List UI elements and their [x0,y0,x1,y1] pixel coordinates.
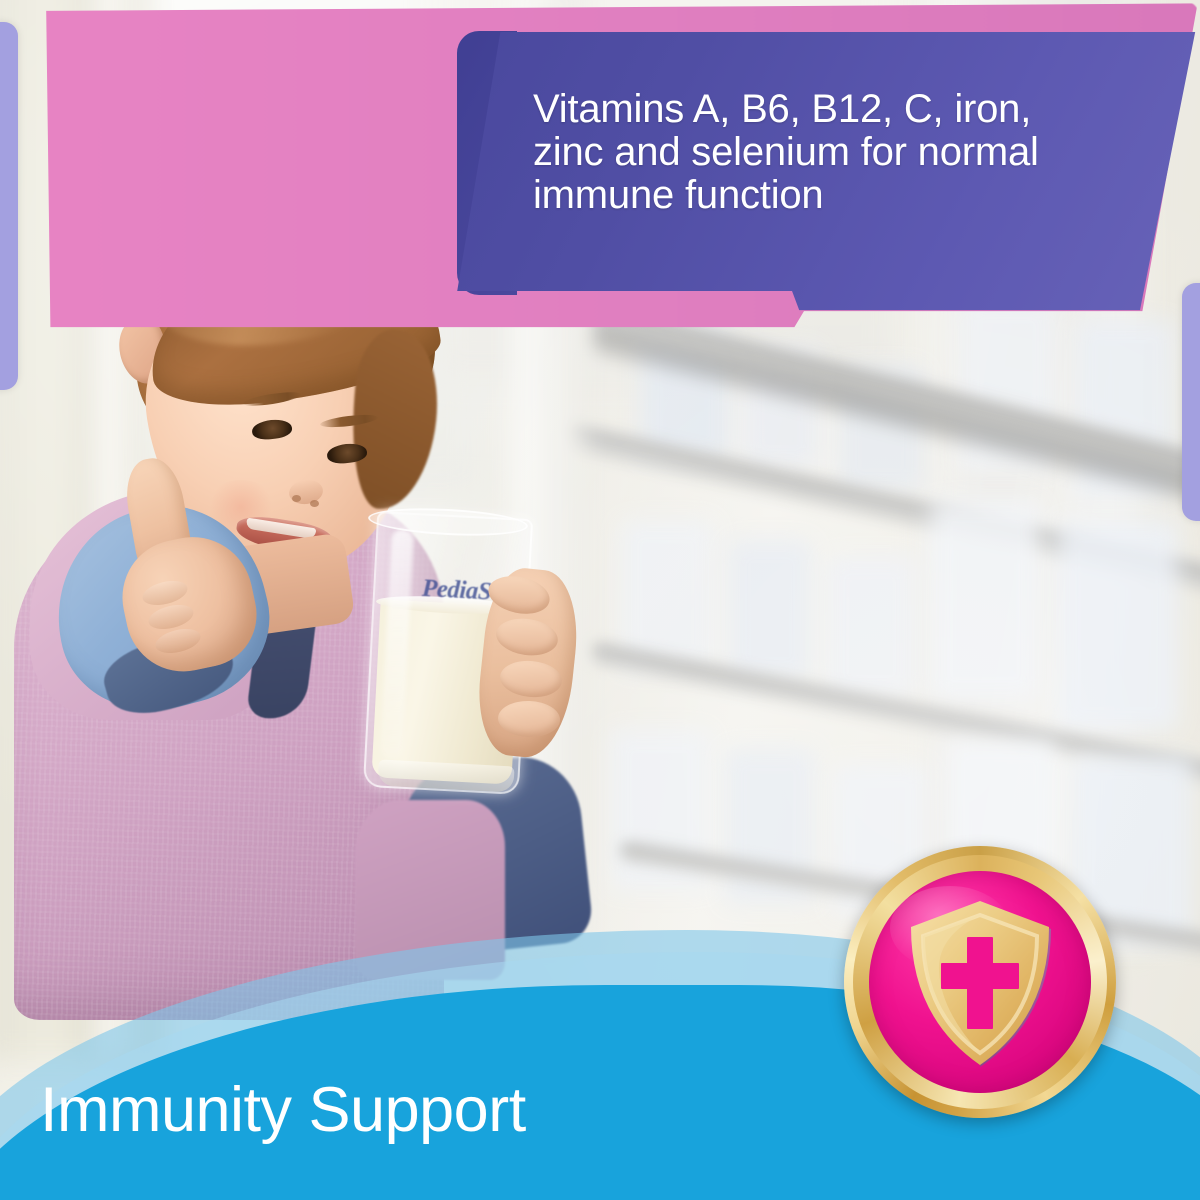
headline-line-2: zinc and selenium for normal [533,131,1143,174]
headline-line-3: immune function [533,174,1143,217]
headline-banner: Vitamins A, B6, B12, C, iron, zinc and s… [0,0,1200,340]
shelf-product [728,540,812,680]
shelf-product [1058,520,1178,730]
boy-nostril [292,495,301,502]
boy-nostril [310,500,319,507]
shield-plus-icon [869,871,1091,1093]
milk-glass: PediaSu [370,515,530,800]
advertisement-canvas: PediaSu Vitamins A, B6, B12, C, iron, zi… [0,0,1200,1200]
immunity-badge [844,846,1116,1118]
headline-text: Vitamins A, B6, B12, C, iron, zinc and s… [533,88,1143,216]
headline-line-1: Vitamins A, B6, B12, C, iron, [533,88,1143,131]
footer-title: Immunity Support [40,1074,526,1146]
shelf-product [826,556,916,698]
shelf-product [930,500,1040,700]
